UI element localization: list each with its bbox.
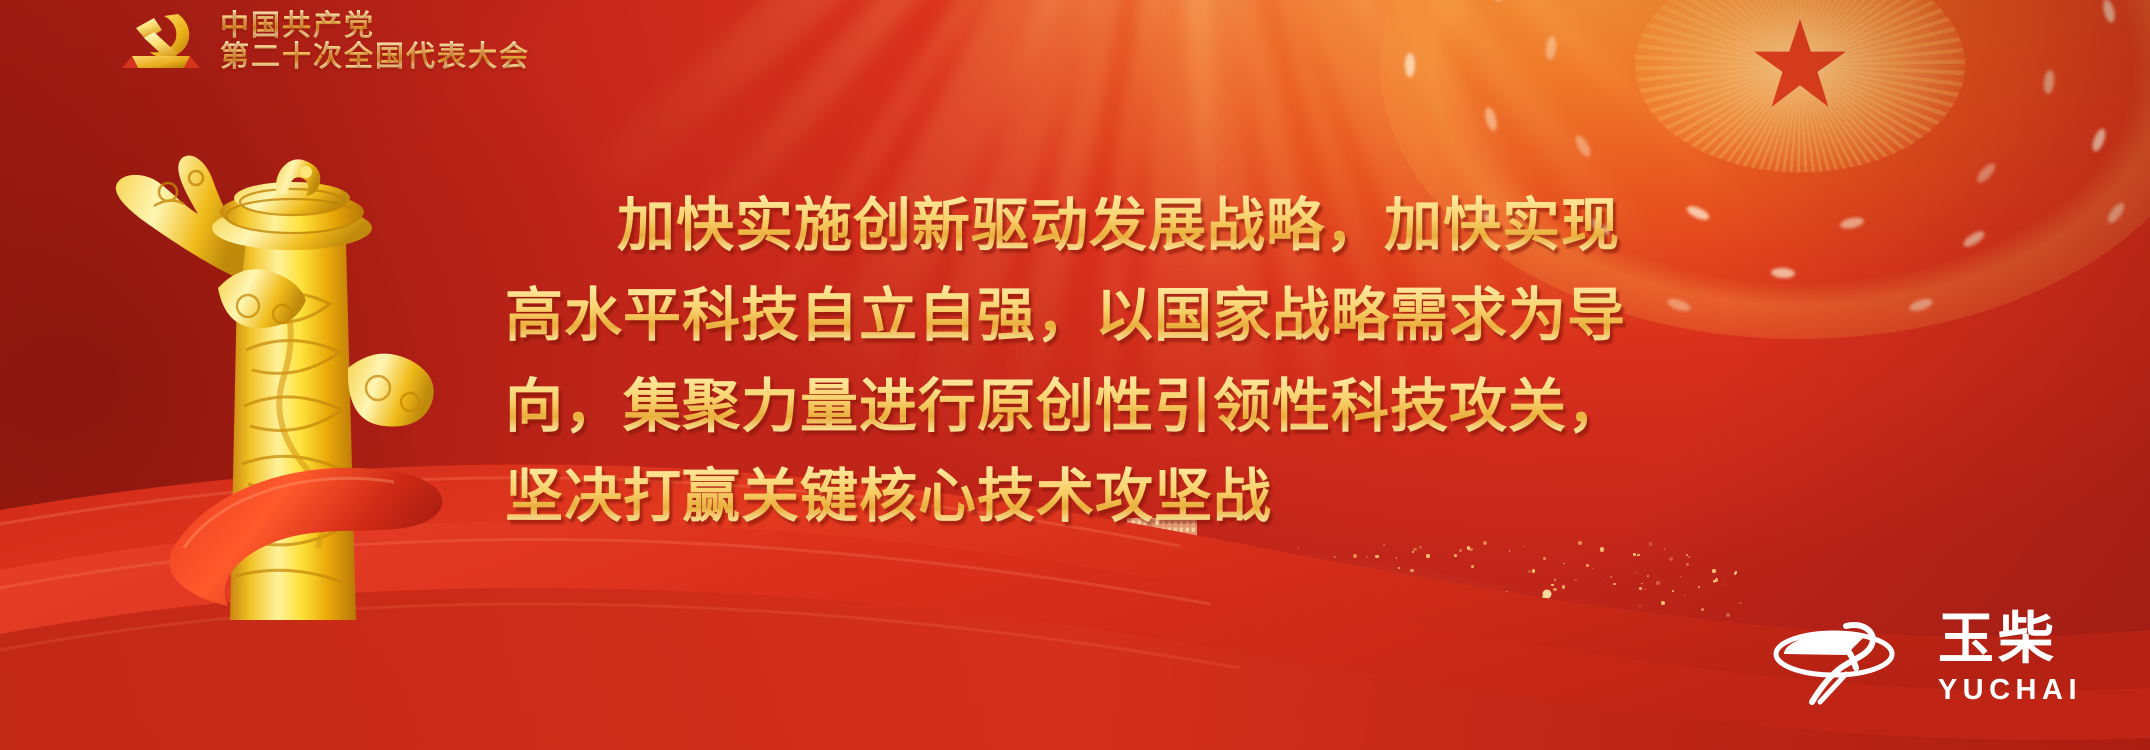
banner-root: 中国共产党 第二十次全国代表大会 加快实施创新驱动发展战略，加快实现 高水平科技… [0,0,2150,750]
monitor-screen-icon [1377,596,1431,648]
pagoda-tower [968,544,1014,670]
party-logo-line1: 中国共产党 [220,10,530,41]
huabiao-capital [212,159,372,250]
party-congress-logo: 中国共产党 第二十次全国代表大会 [120,8,530,74]
slogan-line-3: 向，集聚力量进行原创性引领性科技攻关， [505,361,1765,451]
grid-building [1201,578,1277,670]
office-block [863,598,911,670]
slogan-line-2: 高水平科技自立自强，以国家战略需求为导 [505,270,1765,360]
slogan-line-1: 加快实施创新驱动发展战略，加快实现 [505,180,1765,270]
atom-icon [1307,596,1355,648]
biotech-circle-icon [1449,594,1497,642]
small-block [1181,638,1207,670]
twin-towers [1033,594,1115,670]
growth-chart-icon [1501,590,1552,643]
slogan-line-4: 坚决打赢关键核心技术攻坚战 [505,451,1765,541]
yuchai-name-en: YUCHAI [1938,676,2082,705]
slogan-block: 加快实施创新驱动发展战略，加快实现 高水平科技自立自强，以国家战略需求为导 向，… [505,180,1765,542]
yuchai-brand-logo: 玉柴 YUCHAI [1772,608,2082,708]
huabiao-ornamental-column [110,120,470,640]
yuchai-swoosh-mark [1772,608,1922,708]
party-logo-line2: 第二十次全国代表大会 [220,41,530,72]
hammer-and-sickle-emblem [120,8,204,74]
yuchai-name-cn: 玉柴 [1938,612,2058,668]
